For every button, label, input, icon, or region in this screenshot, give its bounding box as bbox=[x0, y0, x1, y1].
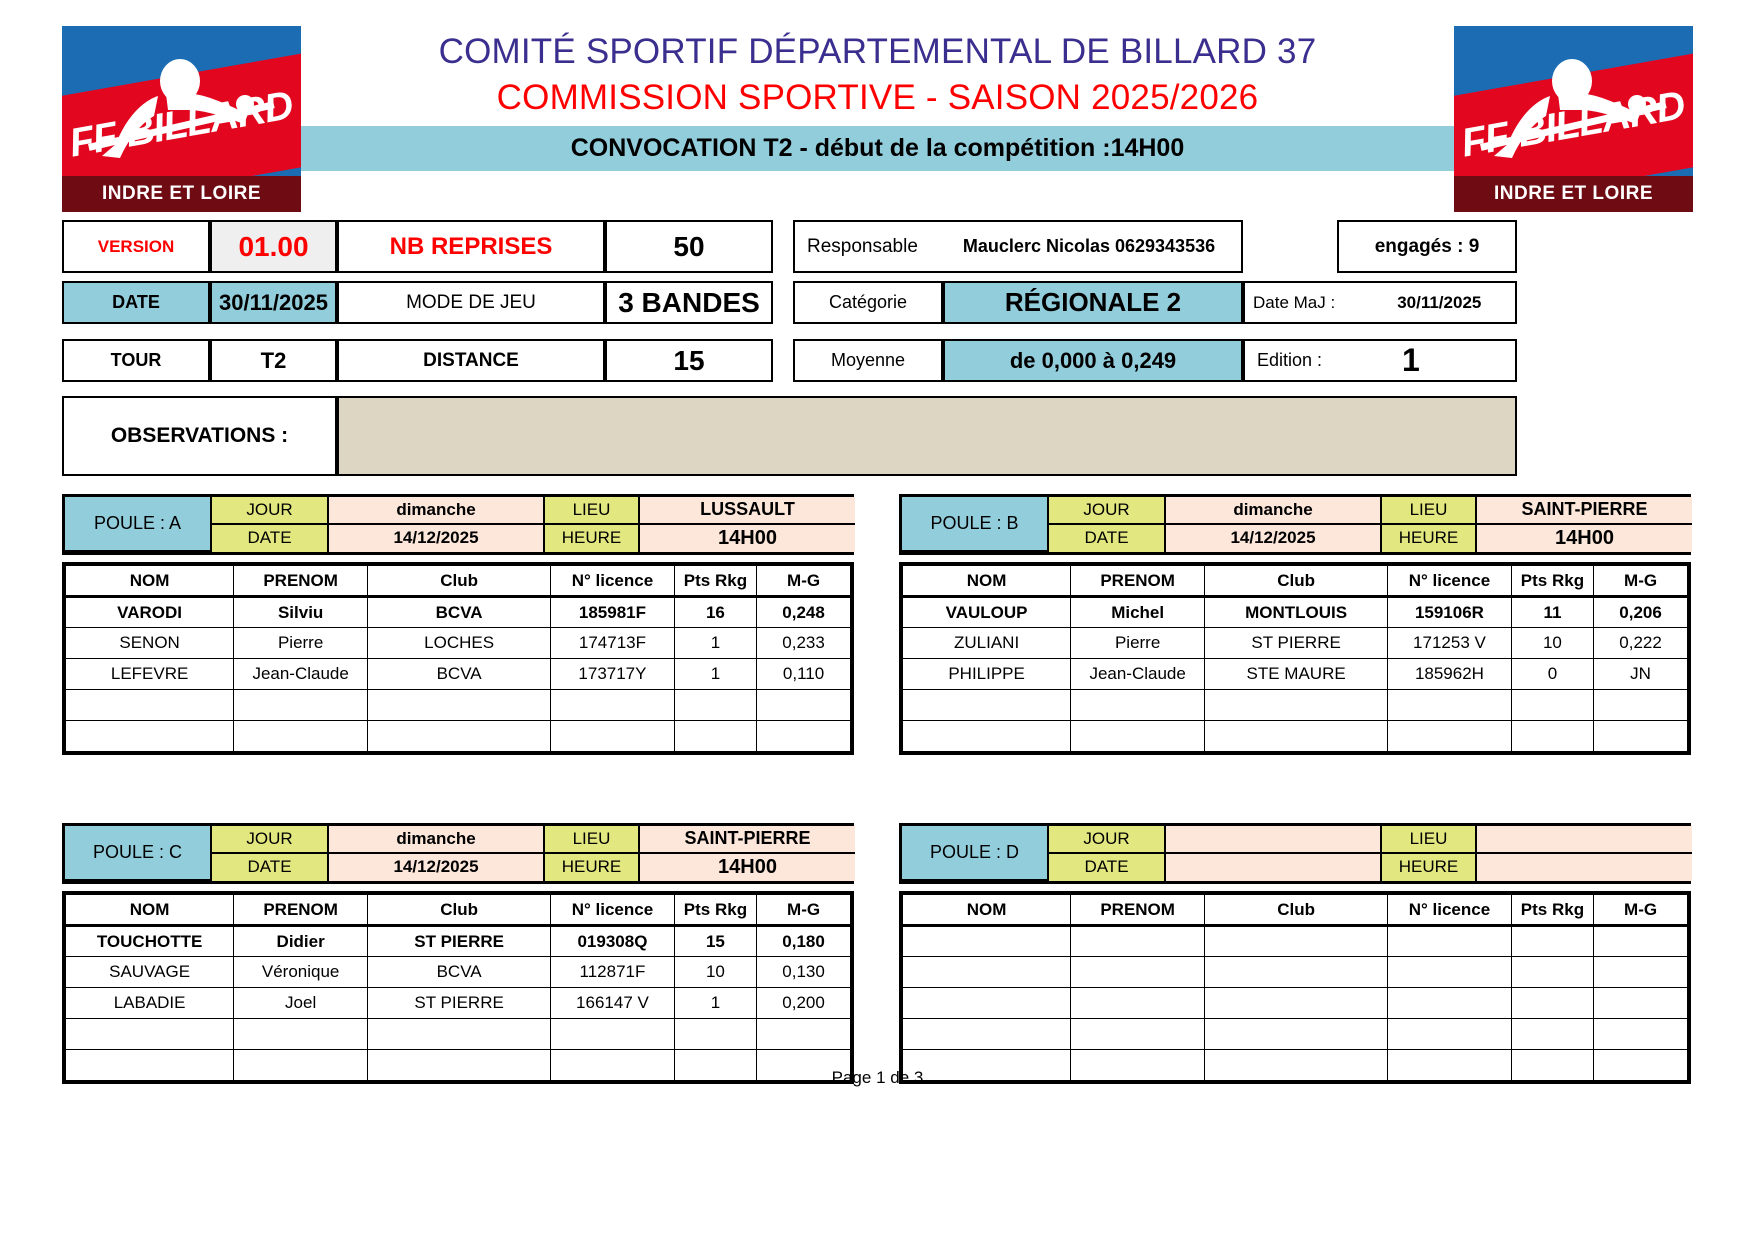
cell-pts bbox=[1511, 957, 1593, 988]
cell-club: ST PIERRE bbox=[1205, 628, 1388, 659]
cell-nom bbox=[903, 957, 1071, 988]
poule-heure-value-d bbox=[1477, 854, 1692, 882]
table-row bbox=[66, 721, 851, 752]
poule-lieu-label: LIEU bbox=[1382, 497, 1477, 525]
cell-nom: VAULOUP bbox=[903, 597, 1071, 628]
cell-nom: ZULIANI bbox=[903, 628, 1071, 659]
poule-table-c: NOM PRENOM Club N° licence Pts Rkg M-G T… bbox=[62, 891, 854, 1084]
cell-pts bbox=[1511, 926, 1593, 957]
version-label: VERSION bbox=[62, 220, 210, 273]
cell-licence bbox=[551, 721, 675, 752]
table-header-row: NOM PRENOM Club N° licence Pts Rkg M-G bbox=[66, 895, 851, 926]
cell-pts: 10 bbox=[1511, 628, 1593, 659]
cell-club: BCVA bbox=[368, 659, 551, 690]
table-row: VARODISilviuBCVA185981F160,248 bbox=[66, 597, 851, 628]
poule-label-a: POULE : A bbox=[65, 497, 212, 552]
date-maj-row: Date MaJ : 30/11/2025 bbox=[1243, 281, 1517, 324]
cell-mg: 0,222 bbox=[1594, 628, 1688, 659]
cell-mg: 0,130 bbox=[757, 957, 851, 988]
cell-nom bbox=[66, 721, 234, 752]
poule-jour-label: JOUR bbox=[1049, 826, 1166, 854]
categorie-value: RÉGIONALE 2 bbox=[943, 281, 1243, 324]
cell-mg bbox=[1594, 1019, 1688, 1050]
cell-prenom bbox=[1071, 988, 1205, 1019]
cell-licence: 174713F bbox=[551, 628, 675, 659]
cell-prenom: Joel bbox=[234, 988, 368, 1019]
cell-prenom: Pierre bbox=[234, 628, 368, 659]
cell-club: LOCHES bbox=[368, 628, 551, 659]
poule-jour-value-b: dimanche bbox=[1166, 497, 1382, 525]
engages-badge: engagés : 9 bbox=[1337, 220, 1517, 273]
table-row: LEFEVREJean-ClaudeBCVA173717Y10,110 bbox=[66, 659, 851, 690]
tour-label: TOUR bbox=[62, 339, 210, 382]
cell-club bbox=[1205, 690, 1388, 721]
cell-licence bbox=[1388, 721, 1512, 752]
cell-pts bbox=[1511, 690, 1593, 721]
observations-label: OBSERVATIONS : bbox=[62, 396, 337, 476]
poule-date-value-d bbox=[1166, 854, 1382, 882]
cell-nom bbox=[903, 1019, 1071, 1050]
cell-licence: 185981F bbox=[551, 597, 675, 628]
poule-heure-label: HEURE bbox=[545, 854, 640, 882]
table-header-row: NOM PRENOM Club N° licence Pts Rkg M-G bbox=[903, 566, 1688, 597]
cell-prenom bbox=[234, 690, 368, 721]
cell-club bbox=[1205, 1019, 1388, 1050]
cell-nom: VARODI bbox=[66, 597, 234, 628]
cell-pts bbox=[674, 721, 756, 752]
poule-date-value-b: 14/12/2025 bbox=[1166, 525, 1382, 553]
poule-label-b: POULE : B bbox=[902, 497, 1049, 552]
col-prenom: PRENOM bbox=[1071, 566, 1205, 597]
ff-billard-logo-left: FF BILLARD INDRE ET LOIRE bbox=[62, 26, 301, 212]
col-pts: Pts Rkg bbox=[674, 566, 756, 597]
poule-date-label: DATE bbox=[1049, 525, 1166, 553]
cell-mg bbox=[757, 721, 851, 752]
poule-lieu-value-b: SAINT-PIERRE bbox=[1477, 497, 1692, 525]
poule-label-d: POULE : D bbox=[902, 826, 1049, 881]
cell-mg: 0,110 bbox=[757, 659, 851, 690]
tour-value: T2 bbox=[210, 339, 337, 382]
col-prenom: PRENOM bbox=[234, 566, 368, 597]
edition-value: 1 bbox=[1402, 342, 1420, 379]
poule-heure-label: HEURE bbox=[1382, 525, 1477, 553]
table-row bbox=[66, 690, 851, 721]
table-row: SENONPierreLOCHES174713F10,233 bbox=[66, 628, 851, 659]
responsable-row: Responsable Mauclerc Nicolas 0629343536 bbox=[793, 220, 1243, 273]
cell-club bbox=[368, 690, 551, 721]
mode-de-jeu-label: MODE DE JEU bbox=[337, 281, 605, 324]
poule-label-c: POULE : C bbox=[65, 826, 212, 881]
cell-pts: 1 bbox=[674, 659, 756, 690]
cell-nom bbox=[66, 690, 234, 721]
cell-pts: 1 bbox=[674, 988, 756, 1019]
col-nom: NOM bbox=[66, 895, 234, 926]
cell-pts bbox=[674, 690, 756, 721]
cell-pts bbox=[1511, 721, 1593, 752]
page-title-primary: COMITÉ SPORTIF DÉPARTEMENTAL DE BILLARD … bbox=[301, 30, 1454, 75]
distance-value: 15 bbox=[605, 339, 773, 382]
convocation-banner: CONVOCATION T2 - début de la compétition… bbox=[301, 126, 1454, 171]
cell-licence bbox=[551, 690, 675, 721]
cell-club bbox=[1205, 926, 1388, 957]
cell-prenom: Michel bbox=[1071, 597, 1205, 628]
cell-prenom bbox=[234, 721, 368, 752]
document-page: FF BILLARD INDRE ET LOIRE COMITÉ SPORTIF… bbox=[0, 0, 1755, 1241]
cell-club: BCVA bbox=[368, 957, 551, 988]
cell-nom: TOUCHOTTE bbox=[66, 926, 234, 957]
page-title-secondary: COMMISSION SPORTIVE - SAISON 2025/2026 bbox=[301, 75, 1454, 121]
poule-table-b: NOM PRENOM Club N° licence Pts Rkg M-G V… bbox=[899, 562, 1691, 755]
col-pts: Pts Rkg bbox=[1511, 566, 1593, 597]
poule-date-label: DATE bbox=[212, 854, 329, 882]
poule-jour-label: JOUR bbox=[1049, 497, 1166, 525]
cell-mg: 0,200 bbox=[757, 988, 851, 1019]
cell-club: MONTLOUIS bbox=[1205, 597, 1388, 628]
cell-mg bbox=[1594, 690, 1688, 721]
cell-mg bbox=[757, 690, 851, 721]
col-licence: N° licence bbox=[1388, 895, 1512, 926]
col-nom: NOM bbox=[903, 566, 1071, 597]
poule-jour-value-c: dimanche bbox=[329, 826, 545, 854]
cell-nom: LABADIE bbox=[66, 988, 234, 1019]
observations-value[interactable] bbox=[337, 396, 1517, 476]
cell-pts: 1 bbox=[674, 628, 756, 659]
cell-pts: 11 bbox=[1511, 597, 1593, 628]
cell-licence: 171253 V bbox=[1388, 628, 1512, 659]
table-row bbox=[903, 690, 1688, 721]
poule-lieu-label: LIEU bbox=[545, 826, 640, 854]
poule-heure-value-b: 14H00 bbox=[1477, 525, 1692, 553]
table-header-row: NOM PRENOM Club N° licence Pts Rkg M-G bbox=[66, 566, 851, 597]
document-header: FF BILLARD INDRE ET LOIRE COMITÉ SPORTIF… bbox=[62, 26, 1693, 212]
cell-prenom bbox=[1071, 957, 1205, 988]
cell-nom bbox=[903, 926, 1071, 957]
cell-licence bbox=[1388, 926, 1512, 957]
cell-club: ST PIERRE bbox=[368, 926, 551, 957]
cell-licence bbox=[1388, 690, 1512, 721]
page-footer: Page 1 de 3 bbox=[0, 1068, 1755, 1088]
header-titles: COMITÉ SPORTIF DÉPARTEMENTAL DE BILLARD … bbox=[301, 26, 1454, 212]
cell-prenom: Véronique bbox=[234, 957, 368, 988]
cell-mg: 0,180 bbox=[757, 926, 851, 957]
cell-prenom: Silviu bbox=[234, 597, 368, 628]
categorie-label: Catégorie bbox=[793, 281, 943, 324]
responsable-label: Responsable bbox=[807, 236, 918, 258]
cell-mg: 0,233 bbox=[757, 628, 851, 659]
cell-pts: 0 bbox=[1511, 659, 1593, 690]
cell-prenom bbox=[1071, 690, 1205, 721]
date-value: 30/11/2025 bbox=[210, 281, 337, 324]
version-value: 01.00 bbox=[210, 220, 337, 273]
table-header-row: NOM PRENOM Club N° licence Pts Rkg M-G bbox=[903, 895, 1688, 926]
poule-header-d: POULE : D JOUR LIEU DATE HEURE bbox=[899, 823, 1691, 884]
poule-lieu-label: LIEU bbox=[1382, 826, 1477, 854]
cell-licence: 166147 V bbox=[551, 988, 675, 1019]
poule-jour-label: JOUR bbox=[212, 497, 329, 525]
cell-prenom: Jean-Claude bbox=[234, 659, 368, 690]
poule-jour-value-a: dimanche bbox=[329, 497, 545, 525]
col-mg: M-G bbox=[757, 566, 851, 597]
table-row: TOUCHOTTEDidierST PIERRE019308Q150,180 bbox=[66, 926, 851, 957]
cell-prenom bbox=[1071, 721, 1205, 752]
cell-club bbox=[1205, 957, 1388, 988]
cell-nom: SAUVAGE bbox=[66, 957, 234, 988]
cell-pts: 15 bbox=[674, 926, 756, 957]
cell-nom: SENON bbox=[66, 628, 234, 659]
col-club: Club bbox=[368, 566, 551, 597]
poule-header-c: POULE : C JOUR dimanche LIEU SAINT-PIERR… bbox=[62, 823, 854, 884]
table-row: SAUVAGEVéroniqueBCVA112871F100,130 bbox=[66, 957, 851, 988]
col-pts: Pts Rkg bbox=[1511, 895, 1593, 926]
poule-heure-value-c: 14H00 bbox=[640, 854, 855, 882]
cell-licence bbox=[551, 1019, 675, 1050]
col-nom: NOM bbox=[903, 895, 1071, 926]
nb-reprises-label: NB REPRISES bbox=[337, 220, 605, 273]
poule-date-label: DATE bbox=[212, 525, 329, 553]
edition-label: Edition : bbox=[1257, 350, 1322, 371]
poule-lieu-value-c: SAINT-PIERRE bbox=[640, 826, 855, 854]
col-club: Club bbox=[368, 895, 551, 926]
table-row: VAULOUPMichelMONTLOUIS159106R110,206 bbox=[903, 597, 1688, 628]
cell-mg bbox=[1594, 988, 1688, 1019]
col-mg: M-G bbox=[757, 895, 851, 926]
cell-licence: 159106R bbox=[1388, 597, 1512, 628]
convocation-banner-text: CONVOCATION T2 - début de la compétition… bbox=[571, 134, 1185, 163]
cell-mg: 0,248 bbox=[757, 597, 851, 628]
col-mg: M-G bbox=[1594, 566, 1688, 597]
table-row bbox=[903, 988, 1688, 1019]
col-pts: Pts Rkg bbox=[674, 895, 756, 926]
cell-club: BCVA bbox=[368, 597, 551, 628]
col-prenom: PRENOM bbox=[234, 895, 368, 926]
ff-billard-logo-right: FF BILLARD INDRE ET LOIRE bbox=[1454, 26, 1693, 212]
cell-licence: 112871F bbox=[551, 957, 675, 988]
moyenne-value: de 0,000 à 0,249 bbox=[943, 339, 1243, 382]
poule-lieu-value-d bbox=[1477, 826, 1692, 854]
poule-date-value-a: 14/12/2025 bbox=[329, 525, 545, 553]
cell-mg bbox=[757, 1019, 851, 1050]
nb-reprises-value: 50 bbox=[605, 220, 773, 273]
edition-row: Edition : 1 bbox=[1243, 339, 1517, 382]
col-club: Club bbox=[1205, 895, 1388, 926]
cell-mg: 0,206 bbox=[1594, 597, 1688, 628]
cell-club bbox=[1205, 988, 1388, 1019]
poule-heure-label: HEURE bbox=[1382, 854, 1477, 882]
table-row: LABADIEJoelST PIERRE166147 V10,200 bbox=[66, 988, 851, 1019]
table-row bbox=[903, 721, 1688, 752]
cell-mg bbox=[1594, 721, 1688, 752]
col-club: Club bbox=[1205, 566, 1388, 597]
col-licence: N° licence bbox=[1388, 566, 1512, 597]
cell-pts: 10 bbox=[674, 957, 756, 988]
date-label: DATE bbox=[62, 281, 210, 324]
cell-prenom bbox=[1071, 1019, 1205, 1050]
poule-lieu-value-a: LUSSAULT bbox=[640, 497, 855, 525]
cell-prenom bbox=[1071, 926, 1205, 957]
cell-prenom bbox=[234, 1019, 368, 1050]
cell-nom bbox=[903, 721, 1071, 752]
cell-mg bbox=[1594, 926, 1688, 957]
cell-licence: 185962H bbox=[1388, 659, 1512, 690]
poule-heure-label: HEURE bbox=[545, 525, 640, 553]
distance-label: DISTANCE bbox=[337, 339, 605, 382]
col-prenom: PRENOM bbox=[1071, 895, 1205, 926]
poule-jour-label: JOUR bbox=[212, 826, 329, 854]
logo-region-label: INDRE ET LOIRE bbox=[1454, 176, 1693, 212]
col-nom: NOM bbox=[66, 566, 234, 597]
moyenne-label: Moyenne bbox=[793, 339, 943, 382]
col-licence: N° licence bbox=[551, 895, 675, 926]
cell-mg: JN bbox=[1594, 659, 1688, 690]
col-licence: N° licence bbox=[551, 566, 675, 597]
poule-table-a: NOM PRENOM Club N° licence Pts Rkg M-G V… bbox=[62, 562, 854, 755]
table-row: ZULIANIPierreST PIERRE171253 V100,222 bbox=[903, 628, 1688, 659]
poule-date-value-c: 14/12/2025 bbox=[329, 854, 545, 882]
cell-mg bbox=[1594, 957, 1688, 988]
table-row bbox=[66, 1019, 851, 1050]
poule-lieu-label: LIEU bbox=[545, 497, 640, 525]
cell-club: ST PIERRE bbox=[368, 988, 551, 1019]
cell-club bbox=[1205, 721, 1388, 752]
cell-pts bbox=[1511, 988, 1593, 1019]
poule-header-a: POULE : A JOUR dimanche LIEU LUSSAULT DA… bbox=[62, 494, 854, 555]
cell-nom bbox=[66, 1019, 234, 1050]
cell-nom: PHILIPPE bbox=[903, 659, 1071, 690]
table-row bbox=[903, 1019, 1688, 1050]
cell-nom bbox=[903, 690, 1071, 721]
cell-prenom: Jean-Claude bbox=[1071, 659, 1205, 690]
poule-heure-value-a: 14H00 bbox=[640, 525, 855, 553]
mode-de-jeu-value: 3 BANDES bbox=[605, 281, 773, 324]
cell-licence: 173717Y bbox=[551, 659, 675, 690]
cell-pts: 16 bbox=[674, 597, 756, 628]
responsable-value: Mauclerc Nicolas 0629343536 bbox=[963, 236, 1215, 257]
cell-club bbox=[368, 721, 551, 752]
cell-pts bbox=[674, 1019, 756, 1050]
cell-nom bbox=[903, 988, 1071, 1019]
date-maj-value: 30/11/2025 bbox=[1397, 293, 1481, 313]
table-row bbox=[903, 926, 1688, 957]
cell-club bbox=[368, 1019, 551, 1050]
col-mg: M-G bbox=[1594, 895, 1688, 926]
cell-prenom: Pierre bbox=[1071, 628, 1205, 659]
cell-licence bbox=[1388, 957, 1512, 988]
cell-licence bbox=[1388, 1019, 1512, 1050]
date-maj-label: Date MaJ : bbox=[1253, 293, 1335, 313]
poule-jour-value-d bbox=[1166, 826, 1382, 854]
cell-licence: 019308Q bbox=[551, 926, 675, 957]
poule-date-label: DATE bbox=[1049, 854, 1166, 882]
table-row bbox=[903, 957, 1688, 988]
cell-nom: LEFEVRE bbox=[66, 659, 234, 690]
poule-header-b: POULE : B JOUR dimanche LIEU SAINT-PIERR… bbox=[899, 494, 1691, 555]
table-row: PHILIPPEJean-ClaudeSTE MAURE185962H0JN bbox=[903, 659, 1688, 690]
poule-table-d: NOM PRENOM Club N° licence Pts Rkg M-G bbox=[899, 891, 1691, 1084]
cell-club: STE MAURE bbox=[1205, 659, 1388, 690]
cell-pts bbox=[1511, 1019, 1593, 1050]
cell-licence bbox=[1388, 988, 1512, 1019]
logo-region-label: INDRE ET LOIRE bbox=[62, 176, 301, 212]
cell-prenom: Didier bbox=[234, 926, 368, 957]
